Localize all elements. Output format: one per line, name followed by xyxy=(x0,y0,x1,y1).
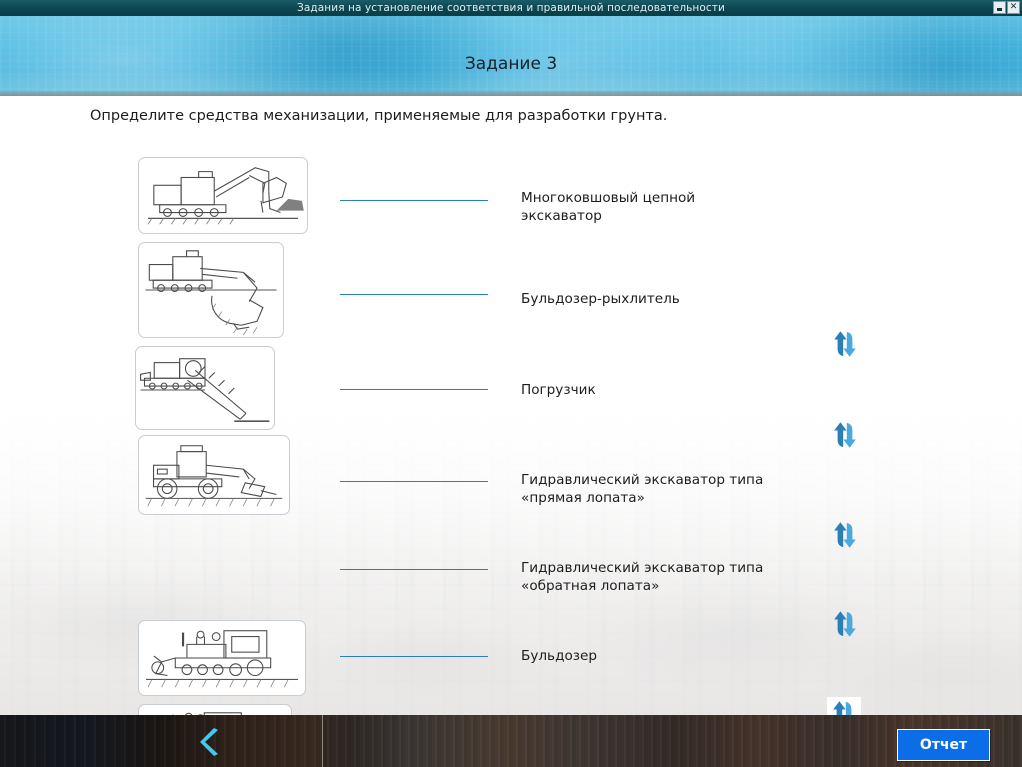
swap-button-1[interactable] xyxy=(828,327,862,361)
window-controls: ✕ xyxy=(993,1,1020,14)
close-icon: ✕ xyxy=(1010,3,1018,12)
swap-arrows-icon xyxy=(830,609,860,639)
footer-bar xyxy=(0,715,1022,767)
minimize-icon xyxy=(997,8,1002,11)
chevron-left-icon xyxy=(198,727,222,757)
answer-label-2[interactable]: Бульдозер-рыхлитель xyxy=(521,290,811,308)
item-image-2[interactable] xyxy=(138,242,284,338)
answer-label-5[interactable]: Гидравлический экскаватор типа «обратная… xyxy=(521,559,811,596)
swap-button-3[interactable] xyxy=(828,518,862,552)
content-area: Определите средства механизации, применя… xyxy=(0,96,1022,715)
answer-label-1[interactable]: Многоковшовый цепной экскаватор xyxy=(521,189,811,226)
swap-arrows-icon xyxy=(830,329,860,359)
swap-button-5-focused[interactable] xyxy=(827,697,861,715)
wheel-loader-icon xyxy=(139,436,289,514)
item-image-1[interactable] xyxy=(138,157,308,234)
connector-line-1 xyxy=(340,200,488,201)
swap-arrows-icon xyxy=(830,520,860,550)
image-column xyxy=(0,96,340,715)
connector-line-3 xyxy=(340,389,488,390)
swap-arrows-icon xyxy=(829,699,859,715)
footer-left-panel xyxy=(0,715,323,767)
answer-label-6[interactable]: Бульдозер xyxy=(521,647,811,665)
back-button[interactable] xyxy=(196,727,224,757)
header-banner: Задание 3 xyxy=(0,16,1022,96)
matching-task: Многоковшовый цепной экскаватор Бульдозе… xyxy=(0,96,1022,715)
answer-label-3[interactable]: Погрузчик xyxy=(521,381,811,399)
excavator-front-shovel-icon xyxy=(139,158,307,233)
close-button[interactable]: ✕ xyxy=(1007,1,1020,14)
question-text: Определите средства механизации, применя… xyxy=(90,108,667,124)
swap-button-2[interactable] xyxy=(828,418,862,452)
connector-line-2 xyxy=(340,294,488,295)
item-image-4[interactable] xyxy=(138,435,290,515)
report-button[interactable]: Отчет xyxy=(897,729,990,761)
app-window: Задания на установление соответствия и п… xyxy=(0,0,1022,767)
task-title: Задание 3 xyxy=(0,54,1022,74)
connector-line-6 xyxy=(340,656,488,657)
swap-arrows-icon xyxy=(830,420,860,450)
bulldozer-ripper-icon xyxy=(139,621,305,695)
minimize-button[interactable] xyxy=(993,1,1006,14)
item-image-6[interactable] xyxy=(138,704,292,715)
chain-trencher-icon xyxy=(136,347,274,429)
title-bar: Задания на установление соответствия и п… xyxy=(0,0,1022,16)
bulldozer-icon xyxy=(139,705,291,715)
item-image-3[interactable] xyxy=(135,346,275,430)
connector-line-4 xyxy=(340,481,488,482)
answer-label-4[interactable]: Гидравлический экскаватор типа «прямая л… xyxy=(521,471,811,508)
excavator-backhoe-icon xyxy=(139,243,283,337)
swap-button-4[interactable] xyxy=(828,607,862,641)
item-image-5[interactable] xyxy=(138,620,306,696)
window-title: Задания на установление соответствия и п… xyxy=(297,2,725,14)
connector-line-5 xyxy=(340,569,488,570)
